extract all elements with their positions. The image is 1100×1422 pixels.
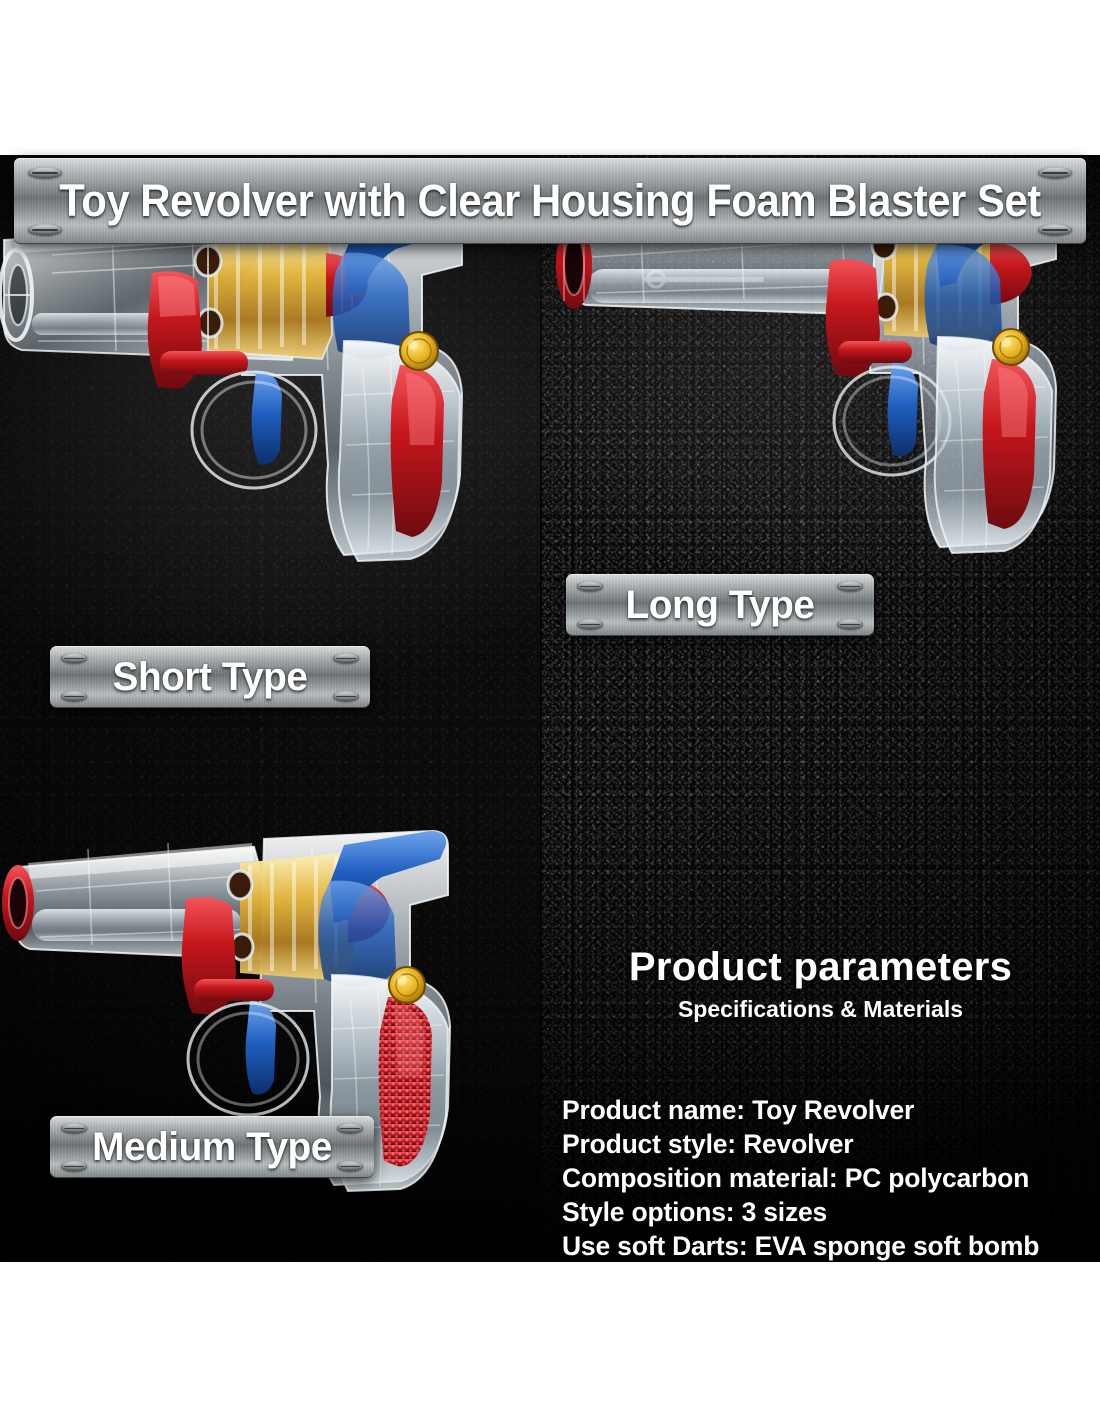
- parameters-subheading: Specifications & Materials: [541, 996, 1100, 1023]
- label-text-short-type: Short Type: [55, 646, 365, 708]
- screw-icon-top-right: [1038, 167, 1072, 178]
- label-plate-short-type: Short Type: [50, 646, 370, 708]
- spec-item-product-name: Product name: Toy Revolver: [562, 1093, 1100, 1127]
- revolver-cylinder-cartridges: [195, 229, 332, 359]
- specification-list: Product name: Toy Revolver Product style…: [541, 1093, 1100, 1262]
- screw-icon-bottom-left: [61, 1161, 87, 1171]
- grip-medallion-gold-icon: [389, 967, 425, 1003]
- revolver-muzzle-cap-red: [2, 865, 34, 941]
- title-banner: Toy Revolver with Clear Housing Foam Bla…: [14, 158, 1086, 244]
- screw-icon-top-right: [333, 653, 359, 663]
- parameters-heading: Product parameters: [541, 945, 1100, 990]
- product-poster: Product parameters Specifications & Mate…: [0, 155, 1100, 1262]
- screw-icon-top-right: [337, 1123, 363, 1133]
- screw-icon-top-left: [61, 653, 87, 663]
- screw-icon-top-left: [28, 167, 62, 178]
- label-plate-long-type: Long Type: [566, 574, 874, 636]
- screw-icon-top-left: [61, 1123, 87, 1133]
- screw-icon-bottom-right: [337, 1161, 363, 1171]
- spec-item-style-options: Style options: 3 sizes: [562, 1195, 1100, 1229]
- spec-item-material: Composition material: PC polycarbon: [562, 1161, 1100, 1195]
- screw-icon-top-right: [837, 581, 863, 591]
- spec-item-soft-darts: Use soft Darts: EVA sponge soft bomb: [562, 1229, 1100, 1262]
- label-plate-medium-type: Medium Type: [50, 1116, 374, 1178]
- product-parameters-section: Product parameters Specifications & Mate…: [541, 945, 1100, 1262]
- label-text-medium-type: Medium Type: [55, 1116, 369, 1178]
- screw-icon-top-left: [577, 581, 603, 591]
- grip-medallion-gold-icon: [993, 329, 1029, 365]
- screw-icon-bottom-right: [837, 619, 863, 629]
- title-text: Toy Revolver with Clear Housing Foam Bla…: [52, 158, 1049, 244]
- screw-icon-bottom-left: [61, 691, 87, 701]
- spec-item-product-style: Product style: Revolver: [562, 1127, 1100, 1161]
- screw-icon-bottom-right: [333, 691, 359, 701]
- screw-icon-bottom-right: [1038, 224, 1072, 235]
- label-text-long-type: Long Type: [571, 574, 870, 636]
- screw-icon-bottom-left: [577, 619, 603, 629]
- grip-medallion-gold-icon: [400, 332, 438, 370]
- screw-icon-bottom-left: [28, 224, 62, 235]
